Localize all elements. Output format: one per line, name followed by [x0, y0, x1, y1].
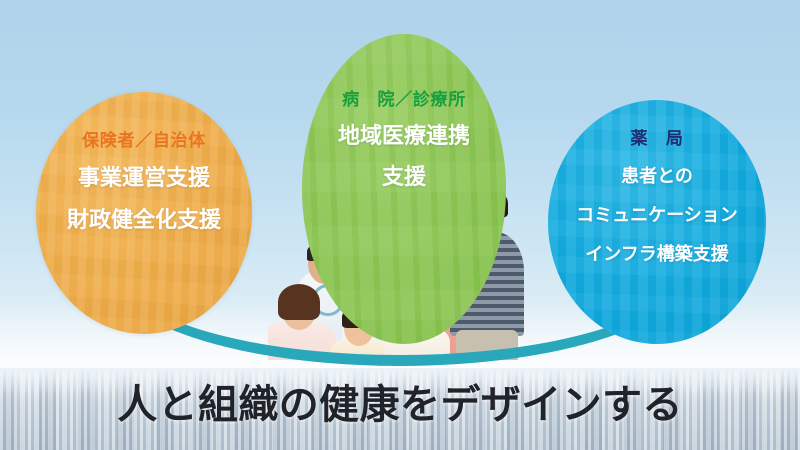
- bubble-line-pharmacy-3: インフラ構築支援: [548, 243, 766, 266]
- bubble-pharmacy[interactable]: 薬 局 患者との コミュニケーション インフラ構築支援: [548, 100, 766, 344]
- bubble-header-pharmacy: 薬 局: [548, 130, 766, 149]
- bubble-line-hospital-1: 地域医療連携: [302, 123, 506, 151]
- bubble-line-insurer-1: 事業運営支援: [36, 165, 252, 193]
- bubble-header-insurer: 保険者／自治体: [36, 132, 252, 151]
- bubble-line-hospital-2: 支援: [302, 164, 506, 192]
- tagline: 人と組織の健康をデザインする: [0, 383, 800, 427]
- bubble-line-pharmacy-1: 患者との: [548, 165, 766, 188]
- bubble-content-orange: 保険者／自治体 事業運営支援 財政健全化支援: [36, 92, 252, 235]
- slide-canvas: 保険者／自治体 事業運営支援 財政健全化支援 病 院／診療所 地域医療連携 支援…: [0, 0, 800, 450]
- bubble-line-insurer-2: 財政健全化支援: [36, 207, 252, 235]
- bubble-header-hospital: 病 院／診療所: [302, 91, 506, 110]
- bubble-insurer-local-government[interactable]: 保険者／自治体 事業運営支援 財政健全化支援: [36, 92, 252, 334]
- bubble-content-green: 病 院／診療所 地域医療連携 支援: [302, 34, 506, 192]
- bubble-content-blue: 薬 局 患者との コミュニケーション インフラ構築支援: [548, 100, 766, 266]
- bubble-line-pharmacy-2: コミュニケーション: [548, 204, 766, 227]
- bubble-hospital-clinic[interactable]: 病 院／診療所 地域医療連携 支援: [302, 34, 506, 344]
